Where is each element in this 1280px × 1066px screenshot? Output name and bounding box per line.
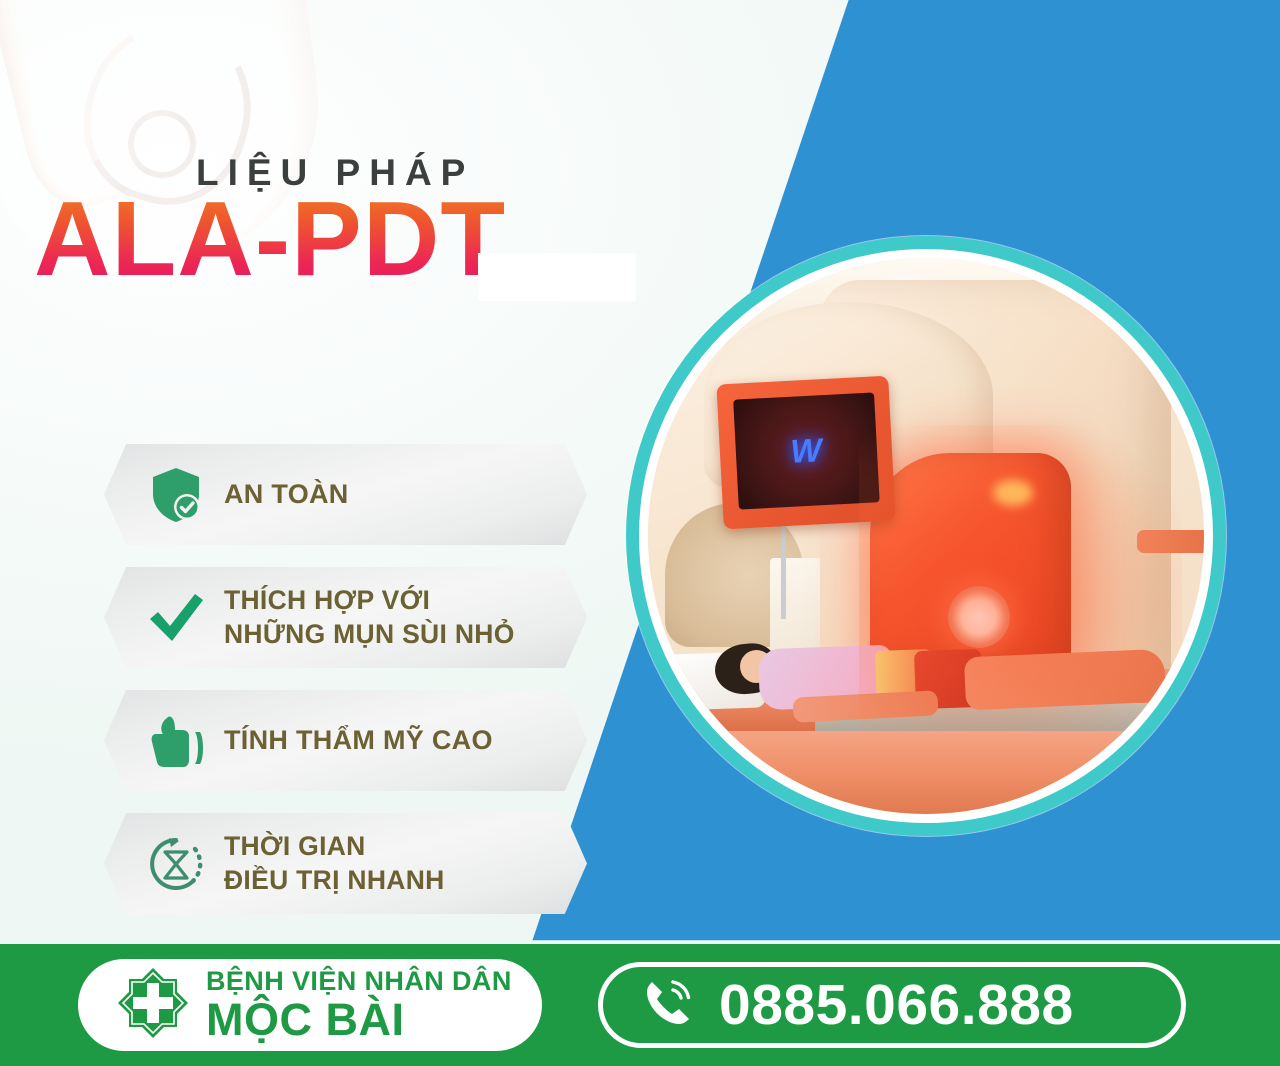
feature-line-1: THÍCH HỢP VỚI	[224, 584, 515, 618]
hourglass-clock-icon	[138, 834, 214, 894]
monitor-stand	[781, 519, 786, 619]
monitor-logo: W	[790, 431, 823, 471]
feature-badge-label: THỜI GIAN ĐIỀU TRỊ NHANH	[224, 830, 445, 898]
thumbs-up-icon	[138, 712, 214, 770]
feature-badge-label: AN TOÀN	[224, 478, 349, 510]
phone-number: 0885.066.888	[719, 972, 1074, 1038]
feature-line-1: THỜI GIAN	[224, 830, 445, 864]
white-redaction-block	[478, 253, 636, 301]
treatment-scene: W	[648, 258, 1204, 814]
patient-legs	[964, 648, 1166, 709]
bed-base	[659, 731, 1193, 814]
monitor-screen: W	[733, 393, 880, 510]
hospital-name: BỆNH VIỆN NHÂN DÂN MỘC BÀI	[206, 968, 512, 1042]
feature-badge-thoi-gian[interactable]: THỜI GIAN ĐIỀU TRỊ NHANH	[104, 813, 587, 914]
check-mark-icon	[138, 589, 214, 647]
phone-call-icon	[639, 974, 697, 1037]
feature-badge-an-toan[interactable]: AN TOÀN	[104, 444, 587, 545]
feature-badge-thich-hop[interactable]: THÍCH HỢP VỚI NHỮNG MỤN SÙI NHỎ	[104, 567, 587, 668]
machine-side-arm	[1137, 530, 1213, 552]
treatment-photo-ring: W	[626, 236, 1226, 836]
poster-canvas: LIỆU PHÁP ALA-PDT AN TOÀN	[0, 0, 1280, 1066]
hospital-brand-pill[interactable]: BỆNH VIỆN NHÂN DÂN MỘC BÀI	[78, 959, 542, 1051]
feature-line-1: AN TOÀN	[224, 479, 349, 509]
feature-badge-list: AN TOÀN THÍCH HỢP VỚI NHỮNG MỤN SÙI NHỎ	[104, 444, 587, 936]
footer-bar: BỆNH VIỆN NHÂN DÂN MỘC BÀI 0885.066.888	[0, 944, 1280, 1066]
headline-brand: ALA-PDT	[34, 186, 506, 292]
feature-badge-label: THÍCH HỢP VỚI NHỮNG MỤN SÙI NHỎ	[224, 584, 515, 652]
machine-monitor: W	[717, 376, 897, 529]
hospital-name-line-1: BỆNH VIỆN NHÂN DÂN	[206, 968, 512, 995]
phone-cta-pill[interactable]: 0885.066.888	[598, 962, 1186, 1048]
feature-line-2: ĐIỀU TRỊ NHANH	[224, 864, 445, 898]
feature-badge-tham-my[interactable]: TÍNH THẨM MỸ CAO	[104, 690, 587, 791]
hospital-name-line-2: MỘC BÀI	[206, 997, 512, 1042]
medical-cross-logo	[114, 964, 192, 1047]
shield-check-icon	[138, 466, 214, 524]
feature-line-2: NHỮNG MỤN SÙI NHỎ	[224, 618, 515, 652]
feature-line-1: TÍNH THẨM MỸ CAO	[224, 725, 493, 755]
gantry-emitter-port	[948, 586, 1010, 648]
feature-badge-label: TÍNH THẨM MỸ CAO	[224, 724, 493, 756]
treatment-photo: W	[639, 249, 1213, 823]
